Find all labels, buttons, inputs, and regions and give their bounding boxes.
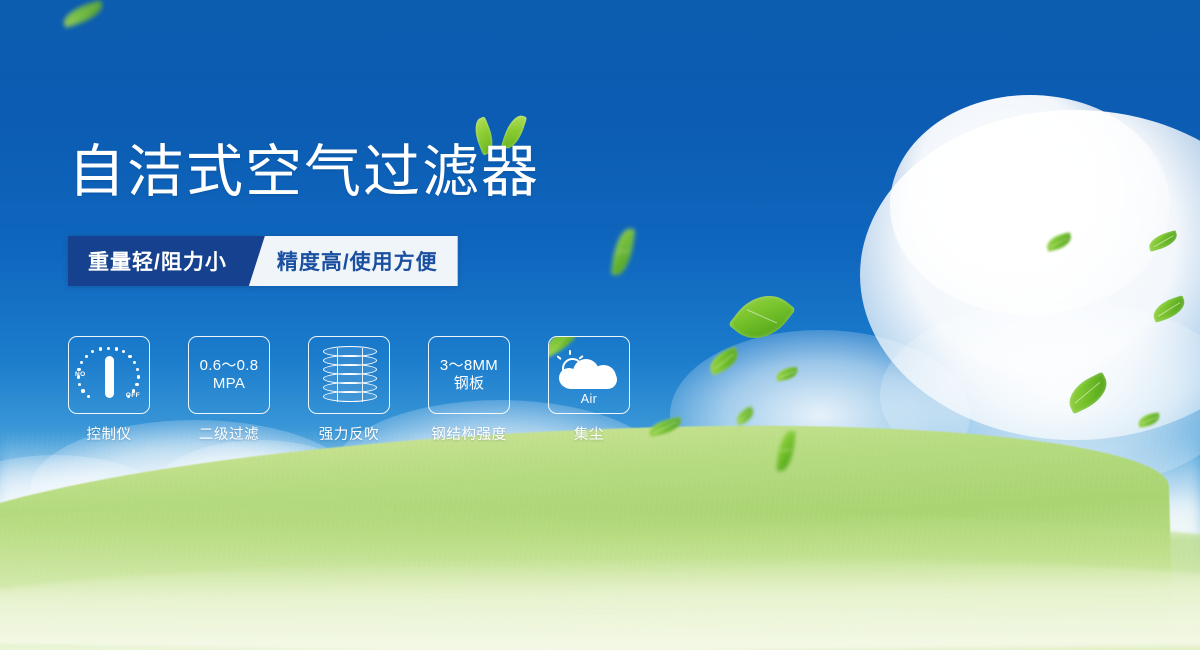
feature-icon-box: Air [548, 336, 630, 414]
feature-label: 控制仪 [86, 423, 131, 444]
grass-field [0, 431, 1200, 650]
cloud-air-icon: Air [557, 346, 621, 404]
feature-icon-box: 3～8MM 钢板 [428, 336, 510, 414]
subtitle-bar: 重量轻/阻力小 精度高/使用方便 [68, 236, 458, 286]
horizon-haze-low [0, 500, 1200, 570]
leaf-decoration [647, 417, 683, 438]
leaf-decoration [611, 227, 636, 277]
leaf-decoration [775, 367, 798, 382]
pleated-filter-icon [323, 345, 375, 405]
grass-texture [0, 431, 1200, 650]
pressure-value: 0.6～0.8 [200, 357, 259, 375]
feature-label: 集尘 [574, 423, 604, 444]
subtitle-left-segment: 重量轻/阻力小 [68, 236, 249, 286]
leaf-decoration [728, 282, 796, 352]
leaf-decoration [1045, 232, 1074, 252]
pressure-text-icon: 0.6～0.8 MPA [200, 357, 259, 392]
pressure-unit: MPA [200, 375, 259, 393]
cloud-base [561, 370, 617, 389]
feature-list: NO OFF 控制仪 0.6～0.8 MPA 二级过滤 [68, 336, 630, 444]
feature-item-backblow[interactable]: 强力反吹 [308, 336, 390, 444]
leaf-decoration [706, 346, 743, 375]
feature-label: 钢结构强度 [431, 423, 507, 444]
feature-icon-box: NO OFF [68, 336, 150, 414]
leaf-decoration [61, 0, 106, 28]
horizon-haze [0, 430, 1200, 540]
leaf-decoration [1063, 372, 1114, 415]
cloud-right-lower [880, 300, 1200, 490]
gauge-label-no: NO [75, 371, 86, 378]
leaf-decoration [1147, 230, 1180, 252]
feature-icon-box [308, 336, 390, 414]
page-title: 自洁式空气过滤器 [68, 144, 540, 201]
leaf-decoration [776, 429, 796, 472]
cloud-right-upper [890, 95, 1170, 315]
feature-item-dust[interactable]: Air 集尘 [548, 336, 630, 444]
feature-item-pressure[interactable]: 0.6～0.8 MPA 二级过滤 [188, 336, 270, 444]
gauge-needle [105, 356, 114, 398]
hill-primary [0, 413, 1173, 650]
feature-label: 二级过滤 [199, 423, 259, 444]
subtitle-right-segment: 精度高/使用方便 [249, 236, 458, 286]
cloud-mid [670, 330, 970, 500]
cloud-air-label: Air [557, 392, 621, 406]
cloud-left-small [150, 440, 370, 550]
feature-item-steel[interactable]: 3～8MM 钢板 钢结构强度 [428, 336, 510, 444]
steel-material: 钢板 [440, 375, 498, 393]
leaf-decoration [1137, 412, 1161, 428]
leaf-decoration [733, 406, 756, 426]
cloud-main-right [860, 110, 1200, 440]
cloud-far-left [0, 455, 180, 575]
gauge-label-off: OFF [126, 392, 140, 399]
feature-label: 强力反吹 [319, 423, 379, 444]
gauge-icon: NO OFF [76, 344, 142, 406]
leaf-decoration [1150, 295, 1188, 323]
product-banner: 自洁式空气过滤器 重量轻/阻力小 精度高/使用方便 [0, 0, 1200, 650]
hill-foreground-haze [0, 552, 1200, 650]
steel-thickness: 3～8MM [440, 357, 498, 375]
feature-item-controller[interactable]: NO OFF 控制仪 [68, 336, 150, 444]
hill-secondary [0, 495, 1200, 650]
feature-icon-box: 0.6～0.8 MPA [188, 336, 270, 414]
steel-plate-text-icon: 3～8MM 钢板 [440, 357, 498, 392]
